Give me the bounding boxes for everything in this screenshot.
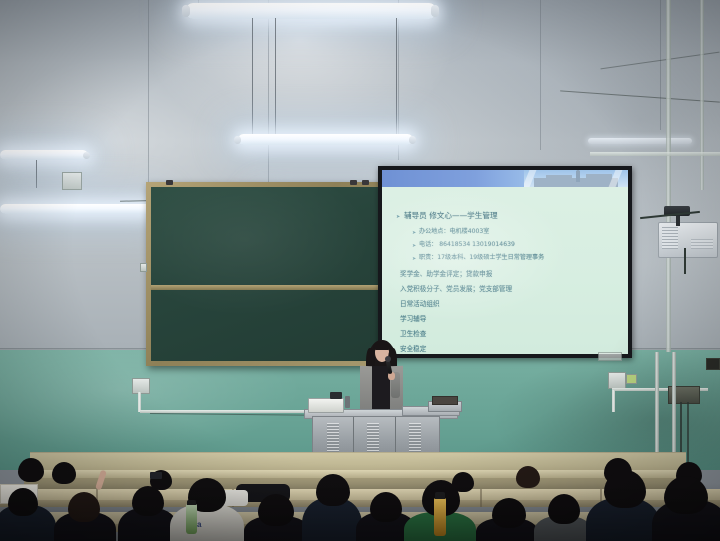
blackboard-clip bbox=[350, 180, 357, 185]
projection-screen-surface: ➤ 辅导员 修文心——学生管理 ➤ 办公地点：电机楼4003室 ➤ 电话： 86… bbox=[382, 170, 628, 354]
slide-line-6: 日常活动组织 bbox=[400, 301, 440, 308]
blackboard-divider bbox=[151, 285, 385, 290]
microphone-head bbox=[385, 356, 391, 362]
ceiling-light-1 bbox=[186, 3, 436, 19]
student-head bbox=[370, 492, 402, 522]
slide-bullet-icon: ➤ bbox=[412, 230, 416, 236]
slide-bullet-icon: ➤ bbox=[412, 256, 416, 262]
bench-divider bbox=[480, 489, 482, 507]
student-head bbox=[68, 492, 100, 522]
student-head bbox=[8, 488, 38, 516]
campus-building-photo-icon bbox=[524, 170, 628, 187]
student-head bbox=[516, 466, 540, 488]
projector-cable bbox=[684, 248, 686, 274]
ceiling-light-cap bbox=[409, 136, 416, 144]
outlet-box-left bbox=[132, 378, 150, 394]
wall-cable-right bbox=[687, 402, 689, 470]
student-head bbox=[492, 498, 526, 528]
wall-pipe bbox=[666, 0, 671, 352]
student-head bbox=[18, 458, 44, 482]
platform-line bbox=[30, 452, 686, 453]
slide-banner bbox=[382, 170, 628, 187]
student-head bbox=[548, 494, 580, 524]
conduit-left bbox=[138, 392, 141, 412]
bottle-cap bbox=[435, 492, 445, 499]
light-wire bbox=[275, 18, 276, 136]
ceiling-light-cap bbox=[234, 136, 241, 144]
ceiling-light-6 bbox=[588, 138, 692, 144]
projection-screen: ➤ 辅导员 修文心——学生管理 ➤ 办公地点：电机楼4003室 ➤ 电话： 86… bbox=[378, 166, 632, 358]
wall-sensor bbox=[706, 358, 720, 370]
blackboard-clip bbox=[362, 180, 369, 185]
slide-bullet-icon: ➤ bbox=[412, 243, 416, 249]
wall-conduit bbox=[590, 152, 720, 156]
ceiling-light-4 bbox=[0, 204, 152, 214]
ceiling-light-cap bbox=[83, 152, 90, 159]
water-bottle-left bbox=[186, 504, 197, 534]
outlet-box-right bbox=[608, 372, 626, 389]
slide-line-0: 辅导员 修文心——学生管理 bbox=[404, 212, 498, 220]
speaker-jacket-left bbox=[360, 366, 372, 412]
slide-line-5: 入党积极分子、党员发展；党支部管理 bbox=[400, 286, 512, 293]
slide-body: ➤ 辅导员 修文心——学生管理 ➤ 办公地点：电机楼4003室 ➤ 电话： 86… bbox=[382, 187, 628, 354]
light-wire bbox=[396, 18, 397, 136]
blackboard-side-fitting bbox=[140, 263, 147, 272]
water-bottle-right bbox=[434, 498, 446, 536]
student-head bbox=[132, 486, 164, 516]
slide-line-9: 安全稳定 bbox=[400, 346, 426, 353]
phone-device bbox=[150, 472, 162, 479]
wall-seam-5 bbox=[660, 0, 661, 130]
slide-line-4: 奖学金、助学金评定；贷款申报 bbox=[400, 271, 492, 278]
laptop-screen bbox=[432, 396, 458, 405]
student-head bbox=[52, 462, 76, 484]
ceiling-unit bbox=[658, 222, 718, 258]
blackboard bbox=[146, 182, 390, 366]
ceiling-light-cap bbox=[182, 5, 190, 17]
student-head bbox=[604, 470, 646, 508]
speaker-hair-fringe bbox=[373, 341, 391, 350]
console-device[interactable] bbox=[330, 392, 342, 399]
ceiling-light-3 bbox=[0, 150, 88, 160]
wall-seam-4 bbox=[540, 0, 541, 150]
light-wire bbox=[252, 18, 253, 136]
student-head bbox=[258, 494, 294, 526]
lecture-hall-photo: ➤ 辅导员 修文心——学生管理 ➤ 办公地点：电机楼4003室 ➤ 电话： 86… bbox=[0, 0, 720, 541]
screen-bracket bbox=[598, 352, 622, 361]
slide-line-2: 电话： 86418534 13019014639 bbox=[419, 242, 515, 248]
wall-plate bbox=[62, 172, 82, 190]
wall-pipe bbox=[700, 0, 704, 190]
slide-line-1: 办公地点：电机楼4003室 bbox=[419, 229, 489, 235]
document-camera-unit[interactable] bbox=[308, 398, 344, 413]
slide-line-3: 职责：17级本科、19级硕士学生日常管理事务 bbox=[419, 255, 544, 261]
blackboard-surface bbox=[151, 187, 385, 361]
slide-line-8: 卫生检查 bbox=[400, 331, 426, 338]
indicator-plate bbox=[626, 374, 637, 384]
console-arm bbox=[345, 396, 350, 408]
blackboard-clip bbox=[166, 180, 173, 185]
student-head bbox=[664, 476, 708, 514]
ceiling-light-cap bbox=[431, 5, 439, 17]
light-wire bbox=[36, 160, 37, 188]
bottle-cap bbox=[187, 500, 196, 505]
ceiling-light-2 bbox=[238, 134, 413, 145]
conduit-right bbox=[612, 390, 615, 412]
slide-line-7: 学习辅导 bbox=[400, 316, 426, 323]
slide-bullet-icon: ➤ bbox=[396, 214, 400, 220]
student-head bbox=[316, 474, 350, 506]
